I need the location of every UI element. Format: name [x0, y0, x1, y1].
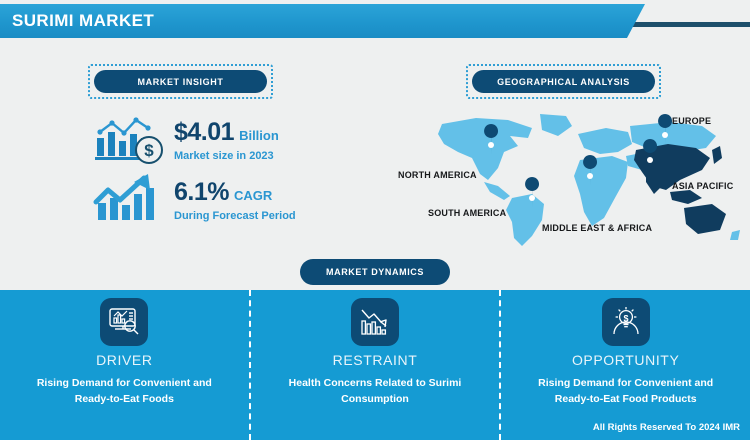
map-region-india — [646, 168, 664, 194]
stat-cagr-unit: CAGR — [234, 188, 272, 203]
page-title: SURIMI MARKET — [12, 11, 154, 31]
stat-market-size-unit: Billion — [239, 128, 279, 143]
geographical-analysis-badge-label: GEOGRAPHICAL ANALYSIS — [472, 70, 655, 93]
panel-opportunity-title: OPPORTUNITY — [572, 352, 679, 368]
panel-opportunity: $ OPPORTUNITY Rising Demand for Convenie… — [499, 290, 750, 440]
market-insight-badge-label: MARKET INSIGHT — [94, 70, 267, 93]
panel-driver-description: Rising Demand for Convenient and Ready-t… — [19, 375, 229, 408]
header-tail-bar — [620, 22, 750, 27]
world-map: NORTH AMERICA EUROPE ASIA PACIFIC SOUTH … — [380, 108, 750, 253]
map-region-central-america — [484, 182, 510, 200]
map-label-south-america: SOUTH AMERICA — [428, 208, 506, 218]
stat-market-size-text: $4.01 Billion Market size in 2023 — [174, 118, 279, 162]
panel-driver: DRIVER Rising Demand for Convenient and … — [0, 290, 249, 440]
map-region-africa — [574, 156, 628, 226]
declining-bar-chart-icon — [351, 298, 399, 346]
copyright-notice: All Rights Reserved To 2024 IMR — [593, 422, 740, 433]
market-dynamics-badge-label: MARKET DYNAMICS — [300, 259, 450, 285]
market-dynamics-panels: DRIVER Rising Demand for Convenient and … — [0, 290, 750, 440]
stat-market-size-value: $4.01 — [174, 118, 234, 147]
map-region-australia — [684, 204, 726, 234]
svg-text:$: $ — [144, 141, 154, 160]
panel-restraint-description: Health Concerns Related to Surimi Consum… — [270, 375, 480, 408]
screen-chart-search-icon — [100, 298, 148, 346]
map-region-south-america — [506, 194, 544, 246]
map-label-north-america: NORTH AMERICA — [398, 170, 477, 180]
map-region-europe — [578, 128, 632, 154]
stat-cagr: 6.1% CAGR During Forecast Period — [92, 172, 296, 228]
stat-market-size: $ $4.01 Billion Market size in 2023 — [92, 112, 279, 168]
map-label-asia-pacific: ASIA PACIFIC — [672, 181, 733, 191]
stat-market-size-caption: Market size in 2023 — [174, 150, 279, 162]
stat-cagr-value: 6.1% — [174, 178, 229, 207]
map-region-sea-islands — [670, 190, 702, 204]
market-dynamics-badge: MARKET DYNAMICS — [300, 259, 450, 285]
map-region-japan — [712, 146, 722, 164]
panel-restraint: RESTRAINT Health Concerns Related to Sur… — [249, 290, 500, 440]
growth-arrow-chart-icon — [92, 172, 170, 228]
map-region-new-zealand — [730, 230, 740, 240]
stat-cagr-text: 6.1% CAGR During Forecast Period — [174, 178, 296, 222]
geographical-analysis-badge: GEOGRAPHICAL ANALYSIS — [466, 64, 661, 99]
stat-cagr-caption: During Forecast Period — [174, 210, 296, 222]
map-label-europe: EUROPE — [672, 116, 711, 126]
panel-restraint-title: RESTRAINT — [333, 352, 418, 368]
header: SURIMI MARKET — [0, 0, 750, 46]
panel-driver-title: DRIVER — [96, 352, 153, 368]
panel-opportunity-description: Rising Demand for Convenient and Ready-t… — [521, 375, 731, 408]
market-insight-badge: MARKET INSIGHT — [88, 64, 273, 99]
map-region-greenland — [540, 114, 572, 136]
bar-chart-dollar-icon: $ — [92, 112, 170, 168]
map-label-middle-east-africa: MIDDLE EAST & AFRICA — [542, 223, 652, 233]
infographic-page: SURIMI MARKET MARKET INSIGHT GEOGRAPHICA… — [0, 0, 750, 440]
lightbulb-dollar-icon: $ — [602, 298, 650, 346]
